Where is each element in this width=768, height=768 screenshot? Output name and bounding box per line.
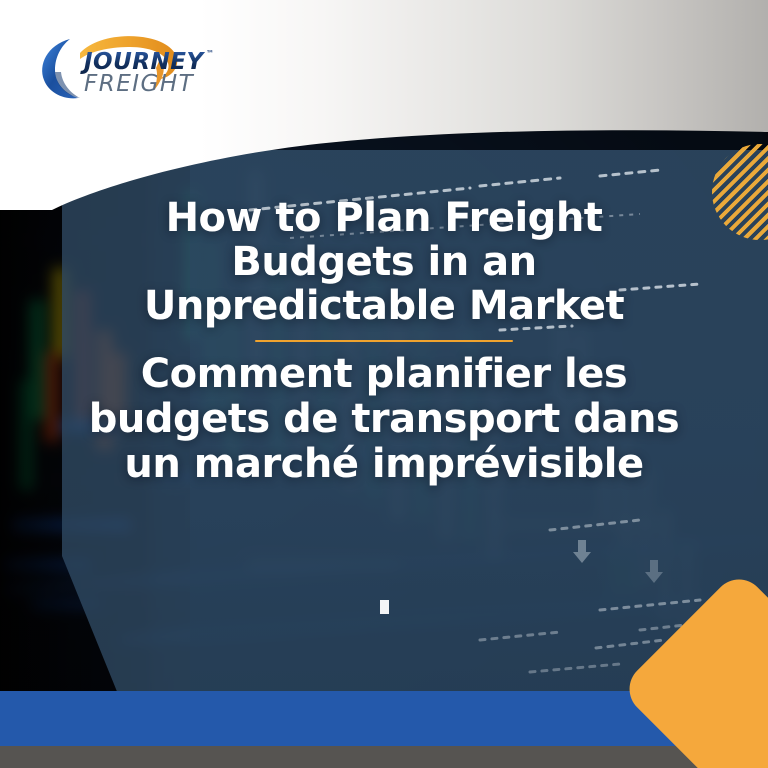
- logo-word-freight: FREIGHT: [84, 71, 195, 97]
- crescent-icon: [42, 39, 78, 98]
- logo-graphic: JOURNEY ™ FREIGHT: [36, 32, 246, 102]
- bottom-gray-bar: [0, 746, 768, 768]
- title-block: How to Plan Freight Budgets in an Unpred…: [86, 196, 682, 486]
- title-french: Comment planifier les budgets de transpo…: [86, 352, 682, 486]
- journey-freight-logo[interactable]: JOURNEY ™ FREIGHT: [36, 32, 246, 102]
- social-media-poster: JOURNEY ™ FREIGHT How to Plan Freight Bu…: [0, 0, 768, 768]
- title-english: How to Plan Freight Budgets in an Unpred…: [86, 196, 682, 328]
- title-divider: [255, 340, 513, 342]
- logo-trademark: ™: [206, 49, 214, 58]
